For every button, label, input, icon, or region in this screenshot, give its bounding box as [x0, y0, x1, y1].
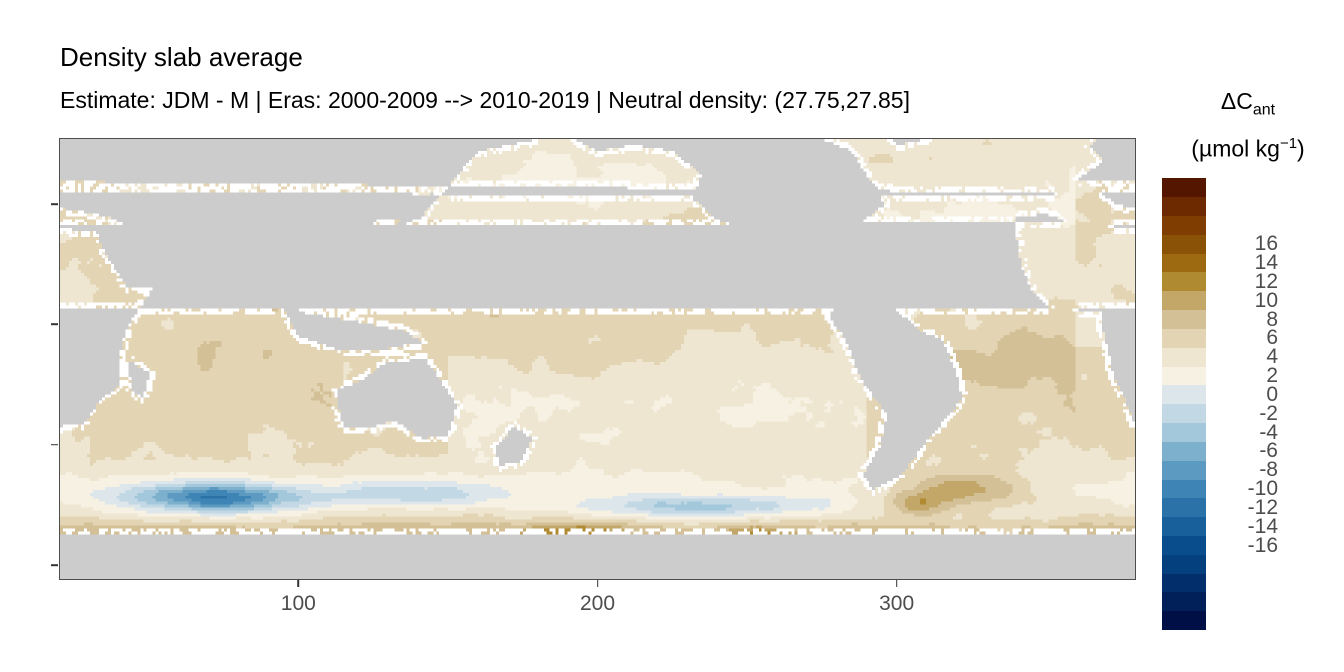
map-plot-area — [60, 139, 1135, 579]
colorbar-swatch — [1162, 480, 1206, 499]
colorbar-swatch — [1162, 235, 1206, 254]
y-tick-mark — [51, 324, 58, 326]
colorbar-swatch — [1162, 385, 1206, 404]
colorbar-swatch — [1162, 178, 1206, 197]
x-tick-mark — [597, 580, 599, 587]
ocean-anomaly-raster — [60, 139, 1135, 579]
x-tick-label: 100 — [281, 592, 316, 616]
colorbar-swatches — [1162, 178, 1206, 630]
colorbar-swatch — [1162, 197, 1206, 216]
x-tick-label: 200 — [580, 592, 615, 616]
x-tick-mark — [896, 580, 898, 587]
x-tick-mark — [298, 580, 300, 587]
anomaly-raster-canvas — [60, 139, 1135, 579]
y-tick-mark — [51, 203, 58, 205]
x-tick-label: 300 — [879, 592, 914, 616]
colorbar-swatch — [1162, 329, 1206, 348]
colorbar-tick-label: -16 — [1222, 534, 1278, 558]
y-tick-mark — [51, 444, 58, 446]
colorbar-swatch — [1162, 367, 1206, 386]
colorbar-swatch — [1162, 442, 1206, 461]
page-title: Density slab average — [60, 42, 303, 72]
colorbar-swatch — [1162, 348, 1206, 367]
colorbar-swatch — [1162, 536, 1206, 555]
colorbar-swatch — [1162, 423, 1206, 442]
colorbar-swatch — [1162, 272, 1206, 291]
legend-units-prefix: (µmol kg — [1191, 135, 1280, 161]
legend-units-suffix: ) — [1297, 135, 1305, 161]
colorbar-swatch — [1162, 310, 1206, 329]
colorbar-swatch — [1162, 592, 1206, 611]
colorbar-swatch — [1162, 461, 1206, 480]
colorbar-swatch — [1162, 291, 1206, 310]
colorbar-swatch — [1162, 498, 1206, 517]
legend-units-exponent: −1 — [1280, 135, 1297, 152]
legend-title: ΔCant — [1152, 86, 1344, 126]
legend-title-subscript: ant — [1253, 102, 1275, 119]
colorbar-swatch — [1162, 216, 1206, 235]
page-subtitle: Estimate: JDM - M | Eras: 2000-2009 --> … — [60, 86, 910, 114]
colorbar-swatch — [1162, 254, 1206, 273]
colorbar-swatch — [1162, 574, 1206, 593]
colorbar-swatch — [1162, 517, 1206, 536]
colorbar-swatch — [1162, 404, 1206, 423]
colorbar-swatch — [1162, 555, 1206, 574]
colorbar-swatch — [1162, 611, 1206, 630]
colorbar-legend: ΔCant (µmol kg−1) 1614121086420-2-4-6-8-… — [1152, 86, 1344, 638]
legend-body: 1614121086420-2-4-6-8-10-12-14-16 — [1152, 178, 1344, 638]
legend-units: (µmol kg−1) — [1152, 128, 1344, 165]
legend-title-main: ΔC — [1221, 88, 1253, 114]
map-panel — [59, 138, 1136, 580]
y-tick-mark — [51, 564, 58, 566]
